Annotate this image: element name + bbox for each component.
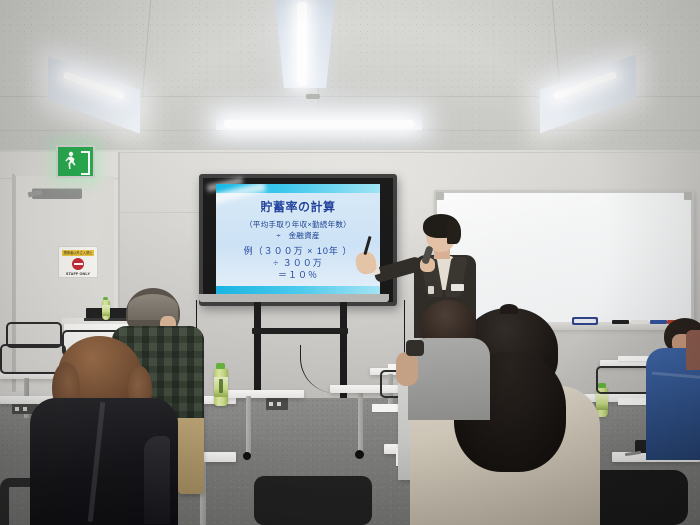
staff-sign-subtext <box>59 247 97 249</box>
staff-sign-header-text: 関係者以外立入禁止 <box>62 250 94 256</box>
slide-line-3: 例（３００万 × 10年 ） <box>216 245 380 257</box>
whiteboard-eraser[interactable] <box>572 317 598 325</box>
desk-leg <box>358 392 363 454</box>
presenter-pocket-card <box>428 286 434 294</box>
wall-seam <box>120 212 210 213</box>
slide-line-5: ＝１０％ <box>216 269 380 281</box>
whiteboard-corner <box>684 192 692 200</box>
tea-bottle[interactable] <box>214 368 228 406</box>
tea-bottle[interactable] <box>102 300 110 320</box>
chair-back[interactable] <box>596 366 652 394</box>
desk-leg <box>246 396 251 454</box>
marker-white-body[interactable] <box>631 320 648 324</box>
attendee-edge-right <box>686 330 700 370</box>
attendee-hand <box>406 340 424 356</box>
slide-line-2: ÷ 金融資産 <box>216 230 380 241</box>
light-tube <box>224 120 414 128</box>
presenter-name-badge <box>451 284 464 291</box>
tv-stand-crossbar <box>252 328 348 334</box>
staff-sign-header: 関係者以外立入禁止 <box>62 250 94 256</box>
ceiling-speaker-icon <box>306 94 320 99</box>
slide-line-1: （平均手取り年収×勤続年数） <box>216 219 380 230</box>
caster <box>243 452 251 460</box>
emergency-exit-sign <box>56 145 95 178</box>
bottle-cap <box>216 363 225 369</box>
slide-body: 貯蓄率の計算 （平均手取り年収×勤続年数） ÷ 金融資産 例（３００万 × 10… <box>216 193 380 286</box>
desk-mid-center <box>218 390 304 398</box>
monitor-bottom-bezel <box>199 294 389 302</box>
marker-black[interactable] <box>612 320 629 324</box>
seminar-room-photo: 関係者以外立入禁止 STAFF ONLY 貯蓄率の計算 （平均手取り年収×勤続年… <box>0 0 700 525</box>
slide-bottom-accent-bar <box>216 286 380 294</box>
bottle-label <box>214 377 228 397</box>
ceiling-seam <box>0 130 700 131</box>
whiteboard-corner <box>436 192 444 200</box>
staff-only-sign: 関係者以外立入禁止 STAFF ONLY <box>58 246 98 278</box>
presentation-slide: 貯蓄率の計算 （平均手取り年収×勤続年数） ÷ 金融資産 例（３００万 × 10… <box>216 184 380 294</box>
power-outlet <box>266 398 288 410</box>
attendee-arm <box>396 352 418 386</box>
no-entry-icon <box>72 258 84 270</box>
caster <box>355 450 364 459</box>
light-tube <box>297 2 307 86</box>
slide-title: 貯蓄率の計算 <box>216 198 380 215</box>
bottle-label <box>596 394 608 410</box>
running-person-exit-icon <box>64 151 80 171</box>
presenter-hair-side <box>447 220 461 244</box>
wall-seam <box>120 152 700 153</box>
attendee-hair-crown <box>500 304 518 314</box>
attendee-arm <box>144 436 170 524</box>
staff-sign-caption: STAFF ONLY <box>59 272 97 276</box>
chair-back-front[interactable] <box>254 476 372 525</box>
marker-blue[interactable] <box>650 320 667 324</box>
ceiling <box>0 0 700 152</box>
exit-door-glyph <box>81 151 90 175</box>
